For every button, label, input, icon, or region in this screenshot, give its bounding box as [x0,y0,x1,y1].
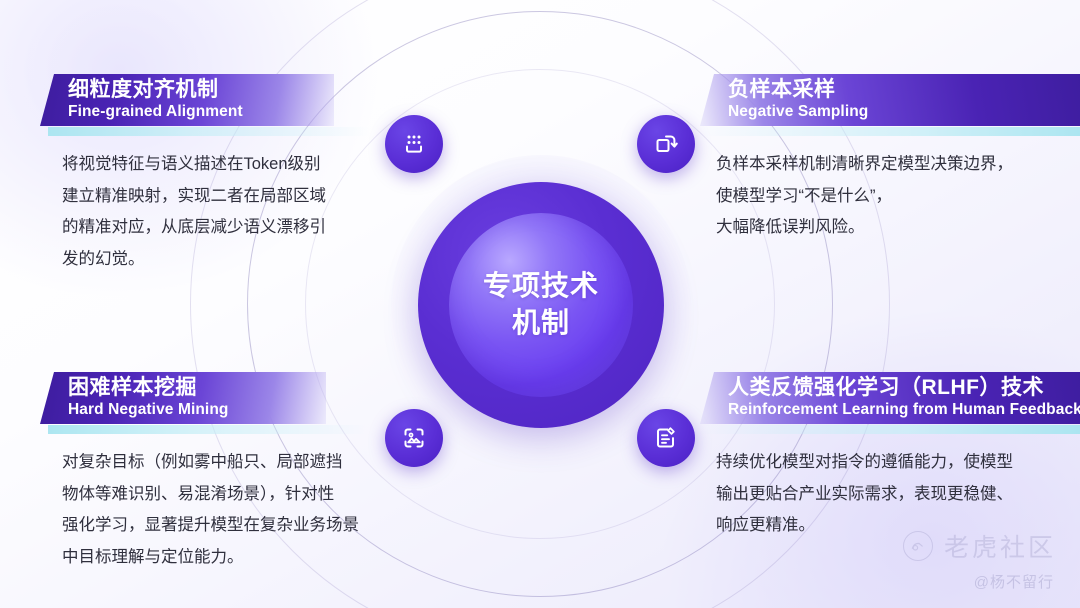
image-scan-icon[interactable] [385,409,443,467]
quadrant-body-text: 负样本采样机制清晰界定模型决策边界， 使模型学习“不是什么”， 大幅降低误判风险… [716,149,1080,244]
quadrant-banner: 人类反馈强化学习（RLHF）技术 Reinforcement Learning … [700,372,1080,424]
quadrant-title-en: Reinforcement Learning from Human Feedba… [728,401,1066,419]
banner-accent-underline [700,127,1080,136]
center-inner-sphere: 专项技术 机制 [449,213,633,397]
center-emblem: 专项技术 机制 [391,155,691,455]
quadrant-title-cn: 细粒度对齐机制 [68,79,308,102]
banner-accent-underline [48,425,366,434]
quadrant-title-en: Negative Sampling [728,103,1066,121]
banner-accent-underline [700,425,1080,434]
banner-accent-underline [48,127,370,136]
alignment-dots-icon[interactable] [385,115,443,173]
quadrant-banner: 负样本采样 Negative Sampling [700,74,1080,126]
quadrant-rlhf: 人类反馈强化学习（RLHF）技术 Reinforcement Learning … [700,372,1080,542]
quadrant-title-cn: 困难样本挖掘 [68,377,300,400]
quadrant-title-cn: 负样本采样 [728,79,1066,102]
quadrant-body-text: 将视觉特征与语义描述在Token级别 建立精准映射，实现二者在局部区域 的精准对… [62,149,402,276]
quadrant-title-en: Hard Negative Mining [68,401,300,419]
quadrant-hard-negative-mining: 困难样本挖掘 Hard Negative Mining 对复杂目标（例如雾中船只… [42,372,414,574]
quadrant-body-text: 持续优化模型对指令的遵循能力，使模型 输出更贴合产业实际需求，表现更稳健、 响应… [716,447,1080,542]
quadrant-banner: 困难样本挖掘 Hard Negative Mining [40,372,326,424]
center-title: 专项技术 机制 [483,268,599,342]
watermark-handle: @杨不留行 [974,571,1054,592]
quadrant-banner: 细粒度对齐机制 Fine-grained Alignment [40,74,334,126]
quadrant-fine-grained-alignment: 细粒度对齐机制 Fine-grained Alignment 将视觉特征与语义描… [42,74,402,276]
resample-rotate-icon[interactable] [637,115,695,173]
quadrant-title-cn: 人类反馈强化学习（RLHF）技术 [728,377,1066,400]
quadrant-body-text: 对复杂目标（例如雾中船只、局部遮挡 物体等难识别、易混淆场景），针对性 强化学习… [62,447,414,574]
quadrant-negative-sampling: 负样本采样 Negative Sampling 负样本采样机制清晰界定模型决策边… [700,74,1080,244]
quadrant-title-en: Fine-grained Alignment [68,103,308,121]
document-edit-icon[interactable] [637,409,695,467]
